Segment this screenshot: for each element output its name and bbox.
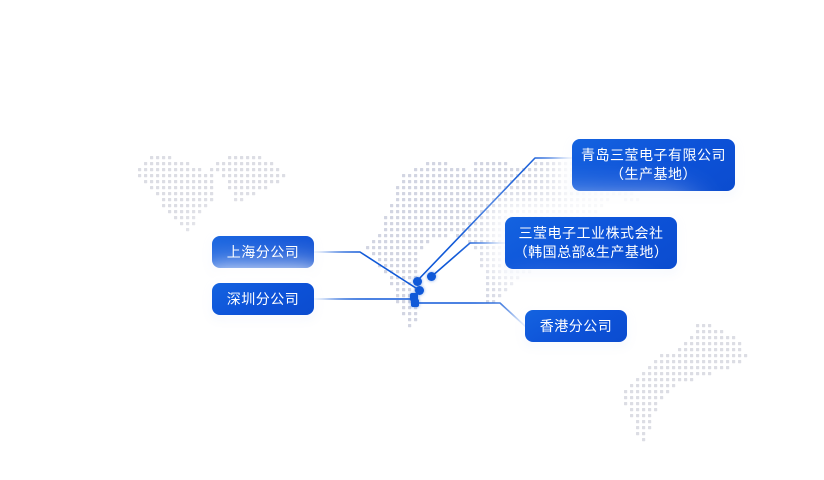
- label-qingdao-line1: 青岛三莹电子有限公司: [581, 146, 726, 165]
- label-korea-line2: （韩国总部&生产基地）: [514, 243, 669, 262]
- label-korea-hq[interactable]: 三莹电子工业株式会社 （韩国总部&生产基地）: [505, 217, 677, 269]
- world-map: [0, 0, 824, 480]
- label-shanghai-line1: 上海分公司: [227, 243, 300, 262]
- map-marker-qingdao[interactable]: [413, 277, 422, 286]
- label-qingdao-line2: （生产基地）: [610, 165, 697, 184]
- infographic-canvas: 青岛三莹电子有限公司 （生产基地） 三莹电子工业株式会社 （韩国总部&生产基地）…: [0, 0, 824, 480]
- label-korea-line1: 三莹电子工业株式会社: [519, 224, 664, 243]
- label-shenzhen-line1: 深圳分公司: [227, 290, 300, 309]
- map-marker-korea[interactable]: [427, 272, 436, 281]
- map-marker-hongkong[interactable]: [411, 299, 419, 307]
- label-shanghai[interactable]: 上海分公司: [212, 236, 314, 268]
- label-shenzhen[interactable]: 深圳分公司: [212, 283, 314, 315]
- label-qingdao[interactable]: 青岛三莹电子有限公司 （生产基地）: [572, 139, 735, 191]
- label-hongkong[interactable]: 香港分公司: [525, 310, 627, 342]
- label-hongkong-line1: 香港分公司: [540, 317, 613, 336]
